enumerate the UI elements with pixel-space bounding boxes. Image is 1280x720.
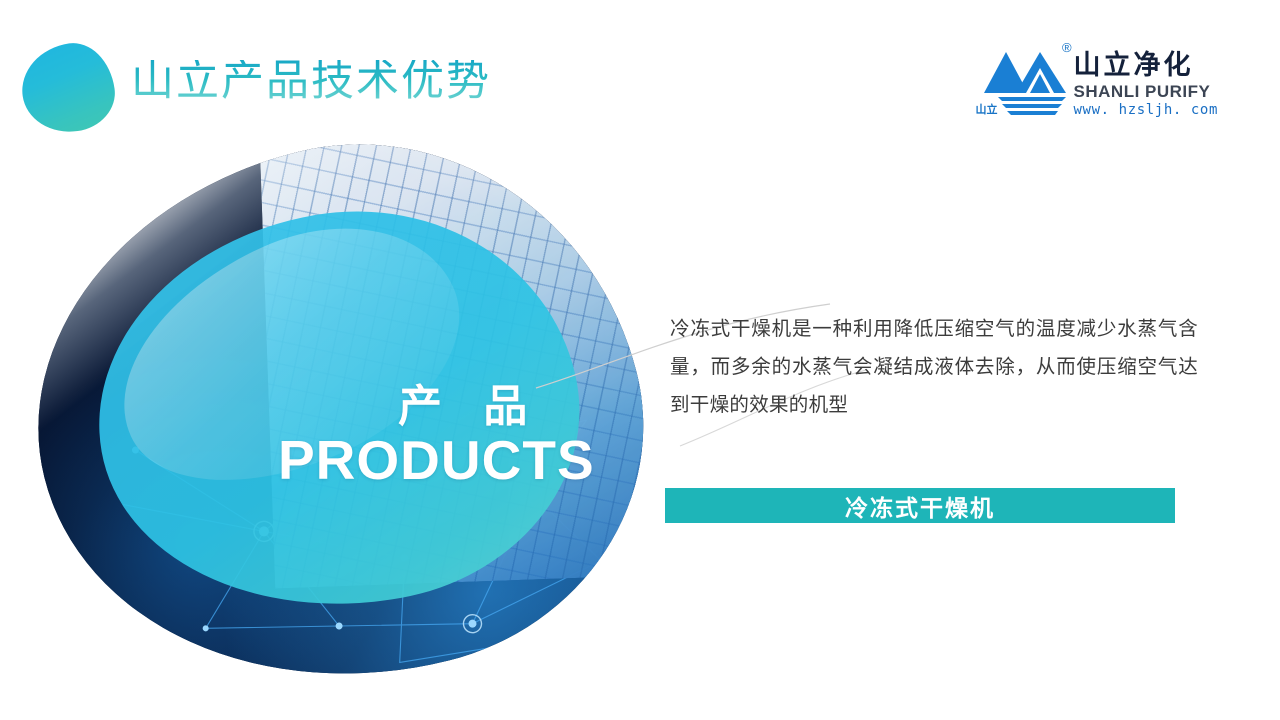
product-name-banner: 冷冻式干燥机 (665, 488, 1175, 523)
logo-company-en: SHANLI PURIFY (1074, 83, 1218, 100)
company-logo: ® 山立 山立净化 SHANLI PURIFY www. hzsljh. com (976, 38, 1218, 120)
banner-label: 冷冻式干燥机 (845, 489, 995, 523)
registered-trademark-icon: ® (1062, 40, 1072, 55)
page-title: 山立产品技术优势 (131, 60, 491, 103)
logo-text-block: 山立净化 SHANLI PURIFY www. hzsljh. com (1074, 38, 1218, 117)
mountain-logo-icon: ® 山立 (976, 38, 1072, 118)
logo-mark-label: 山立 (976, 101, 998, 117)
hero-graphic: 产 品 PRODUCTS (38, 150, 638, 680)
logo-company-cn: 山立净化 (1074, 52, 1218, 79)
logo-website: www. hzsljh. com (1074, 103, 1218, 117)
blob-shape-icon (16, 38, 119, 138)
product-description: 冷冻式干燥机是一种利用降低压缩空气的温度减少水蒸气含量，而多余的水蒸气会凝结成液… (670, 310, 1198, 424)
slide-root: 山立产品技术优势 ® 山立 山立净化 SHANLI PURIFY www. hz… (0, 0, 1280, 720)
